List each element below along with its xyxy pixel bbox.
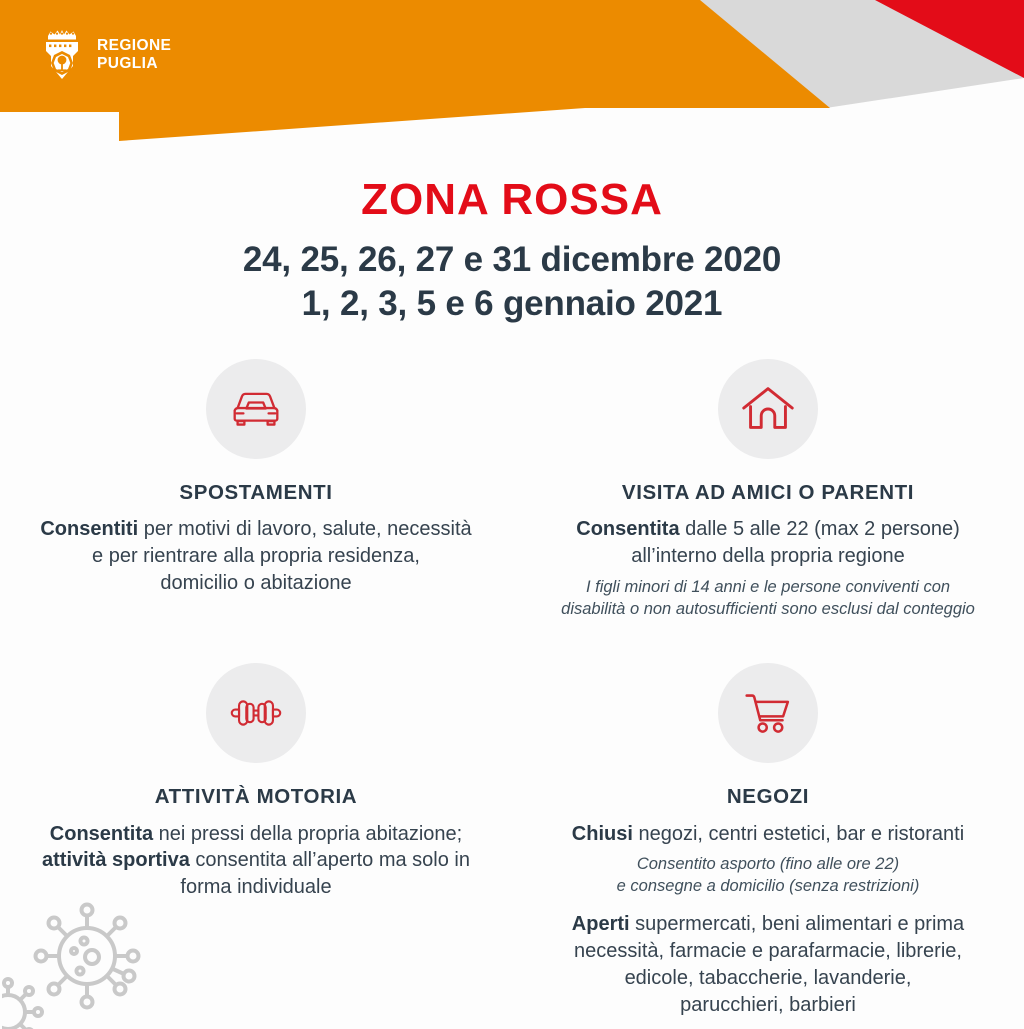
brand-text: REGIONE PUGLIA bbox=[97, 37, 171, 74]
rest-text: consentita all’aperto ma solo in bbox=[190, 849, 470, 871]
card-note-line: e consegne a domicilio (senza restrizion… bbox=[617, 876, 920, 898]
rest-text: forma individuale bbox=[180, 876, 331, 898]
card-attivita-motoria: ATTIVITÀ MOTORIA Consentita nei pressi d… bbox=[0, 663, 512, 1018]
card-body-line: necessità, farmacie e parafarmacie, libr… bbox=[572, 938, 964, 965]
card-body-line: all’interno della propria regione bbox=[576, 543, 960, 570]
rest-text: necessità, farmacie e parafarmacie, libr… bbox=[574, 940, 962, 962]
brand-line-1: REGIONE bbox=[97, 37, 171, 55]
card-body-line: Consentiti per motivi di lavoro, salute,… bbox=[40, 516, 471, 543]
shopping-cart-icon-circle bbox=[718, 663, 818, 763]
house-icon bbox=[737, 378, 799, 440]
rest-text: edicole, tabaccherie, lavanderie, bbox=[625, 967, 912, 989]
page-header: REGIONE PUGLIA bbox=[0, 0, 1024, 160]
dates-block: 24, 25, 26, 27 e 31 dicembre 2020 1, 2, … bbox=[0, 238, 1024, 327]
card-body-line: e per rientrare alla propria residenza, bbox=[40, 543, 471, 570]
card-title-attivita: ATTIVITÀ MOTORIA bbox=[155, 785, 357, 810]
card-note-line: I figli minori di 14 anni e le persone c… bbox=[561, 577, 975, 599]
shopping-cart-icon bbox=[737, 682, 799, 744]
card-body-line: domicilio o abitazione bbox=[40, 570, 471, 597]
card-visita-amici-parenti: VISITA AD AMICI O PARENTI Consentita dal… bbox=[512, 359, 1024, 621]
car-icon bbox=[225, 378, 287, 440]
rest-text: per motivi di lavoro, salute, necessità bbox=[138, 518, 472, 540]
card-note-line: Consentito asporto (fino alle ore 22) bbox=[617, 854, 920, 876]
card-title-visita: VISITA AD AMICI O PARENTI bbox=[622, 481, 914, 506]
card-note-line: disabilità o non autosufficienti sono es… bbox=[561, 599, 975, 621]
card-body-negozi-chiusi: Chiusi negozi, centri estetici, bar e ri… bbox=[572, 821, 964, 848]
rest-text: dalle 5 alle 22 (max 2 persone) bbox=[680, 518, 960, 540]
brand-logo: REGIONE PUGLIA bbox=[38, 27, 171, 83]
title-block: ZONA ROSSA 24, 25, 26, 27 e 31 dicembre … bbox=[0, 178, 1024, 327]
card-spostamenti: SPOSTAMENTI Consentiti per motivi di lav… bbox=[0, 359, 512, 621]
card-body-line: forma individuale bbox=[42, 874, 470, 901]
card-body-spostamenti: Consentiti per motivi di lavoro, salute,… bbox=[40, 516, 471, 596]
rules-grid: SPOSTAMENTI Consentiti per motivi di lav… bbox=[0, 359, 1024, 1019]
card-title-spostamenti: SPOSTAMENTI bbox=[179, 481, 332, 506]
dates-line-1: 24, 25, 26, 27 e 31 dicembre 2020 bbox=[0, 238, 1024, 282]
card-body-line: Chiusi negozi, centri estetici, bar e ri… bbox=[572, 821, 964, 848]
house-icon-circle bbox=[718, 359, 818, 459]
bold-text: Consentiti bbox=[40, 518, 138, 540]
card-body-line: edicole, tabaccherie, lavanderie, bbox=[572, 965, 964, 992]
card-body-line: Consentita dalle 5 alle 22 (max 2 person… bbox=[576, 516, 960, 543]
card-body-line: Aperti supermercati, beni alimentari e p… bbox=[572, 911, 964, 938]
brand-line-2: PUGLIA bbox=[97, 55, 171, 73]
puglia-crest-icon bbox=[38, 27, 86, 83]
bold-text: Consentita bbox=[50, 823, 153, 845]
rest-text: nei pressi della propria abitazione; bbox=[153, 823, 462, 845]
page-title: ZONA ROSSA bbox=[0, 178, 1024, 222]
card-note-negozi: Consentito asporto (fino alle ore 22) e … bbox=[617, 854, 920, 898]
rest-text: all’interno della propria regione bbox=[631, 545, 905, 567]
car-icon-circle bbox=[206, 359, 306, 459]
bold-text: Consentita bbox=[576, 518, 679, 540]
rest-text: domicilio o abitazione bbox=[160, 572, 351, 594]
card-body-line: parucchieri, barbieri bbox=[572, 992, 964, 1019]
card-body-attivita: Consentita nei pressi della propria abit… bbox=[42, 821, 470, 901]
bold-text: attività sportiva bbox=[42, 849, 190, 871]
rest-text: parucchieri, barbieri bbox=[680, 994, 856, 1016]
card-note-visita: I figli minori di 14 anni e le persone c… bbox=[561, 577, 975, 621]
rest-text: supermercati, beni alimentari e prima bbox=[630, 913, 965, 935]
card-body-negozi-aperti: Aperti supermercati, beni alimentari e p… bbox=[572, 911, 964, 1018]
rest-text: negozi, centri estetici, bar e ristorant… bbox=[633, 823, 964, 845]
dates-line-2: 1, 2, 3, 5 e 6 gennaio 2021 bbox=[0, 282, 1024, 326]
card-body-visita: Consentita dalle 5 alle 22 (max 2 person… bbox=[576, 516, 960, 570]
card-body-line: attività sportiva consentita all’aperto … bbox=[42, 847, 470, 874]
dumbbell-icon bbox=[225, 682, 287, 744]
rest-text: e per rientrare alla propria residenza, bbox=[92, 545, 420, 567]
bold-text: Chiusi bbox=[572, 823, 633, 845]
dumbbell-icon-circle bbox=[206, 663, 306, 763]
card-body-line: Consentita nei pressi della propria abit… bbox=[42, 821, 470, 848]
bold-text: Aperti bbox=[572, 913, 630, 935]
card-title-negozi: NEGOZI bbox=[727, 785, 809, 810]
card-negozi: NEGOZI Chiusi negozi, centri estetici, b… bbox=[512, 663, 1024, 1018]
